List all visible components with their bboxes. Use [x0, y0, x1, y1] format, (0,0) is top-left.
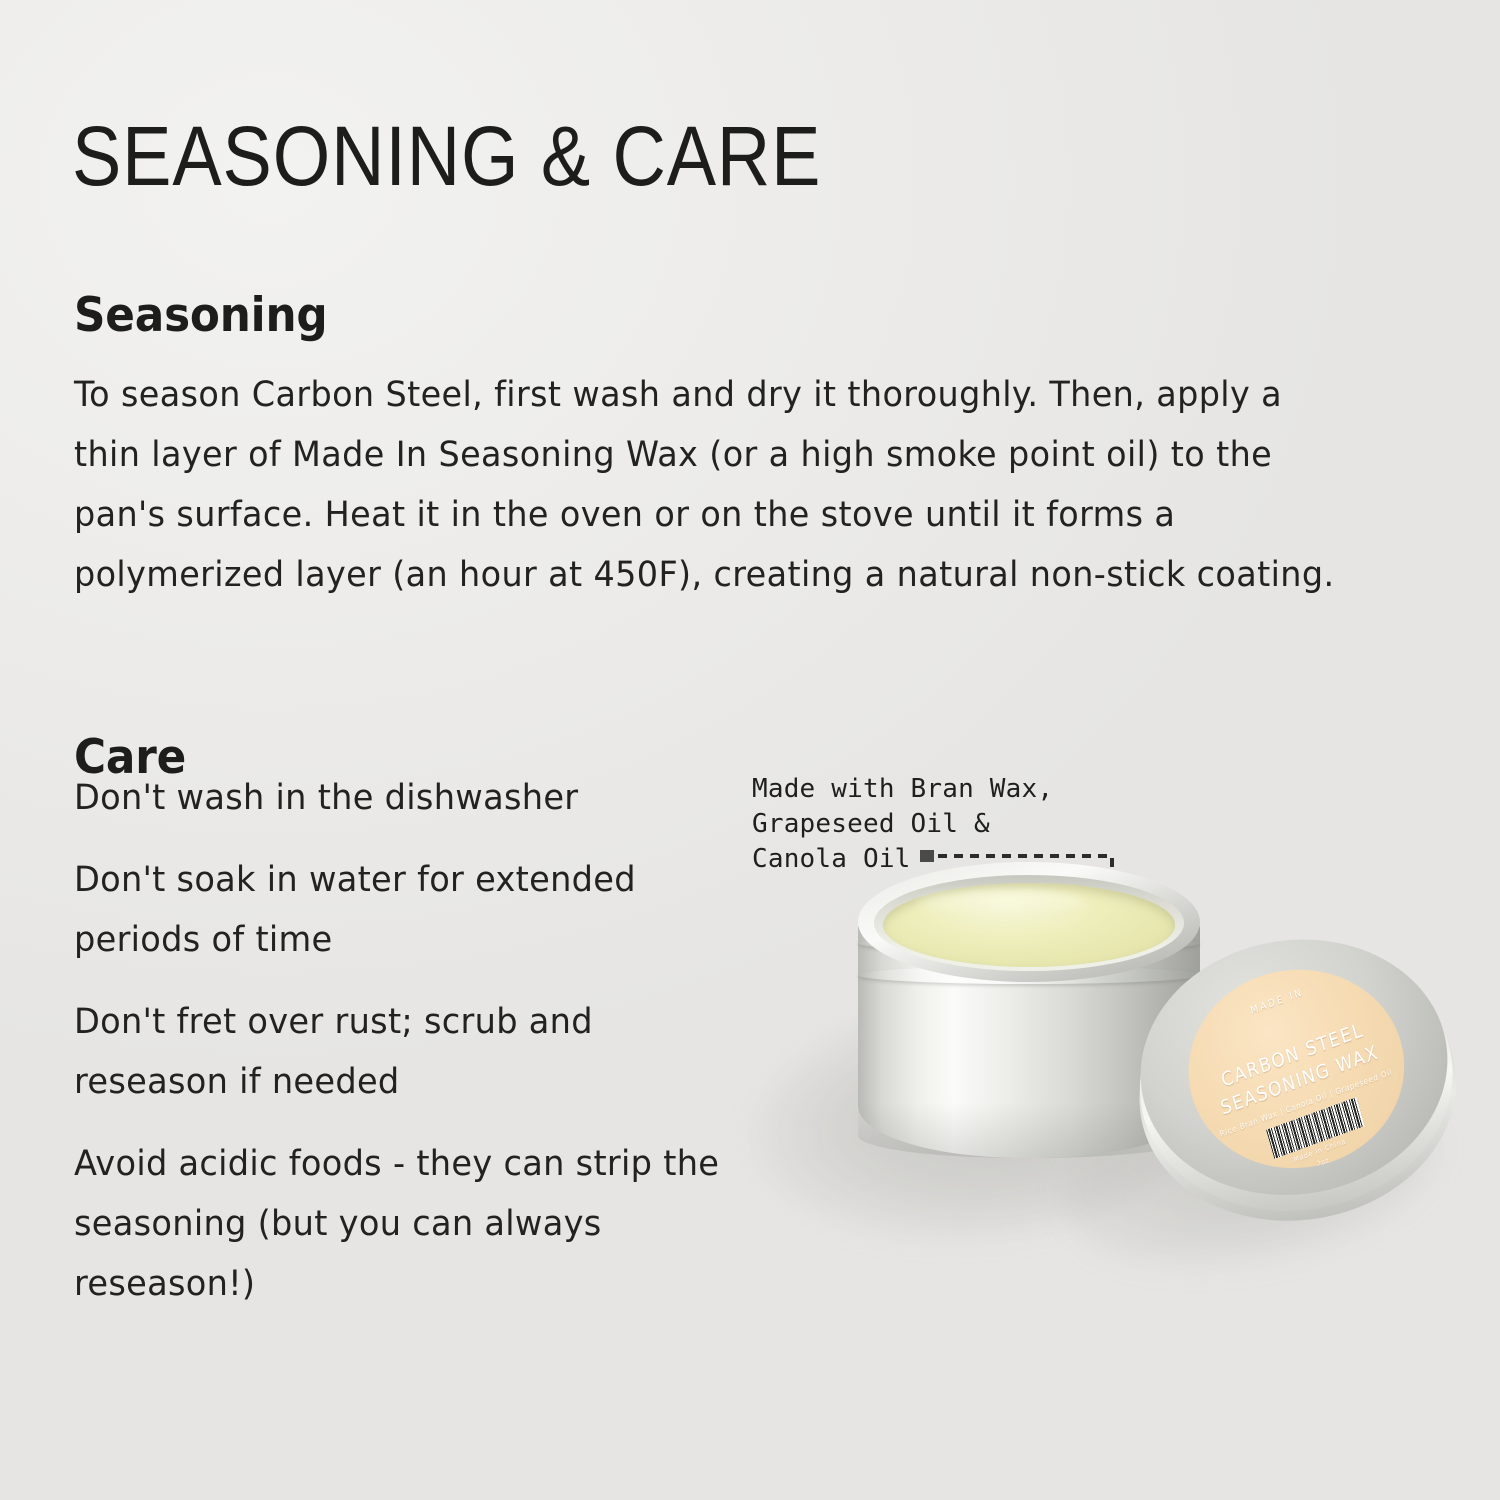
seasoning-paragraph: To season Carbon Steel, first wash and d…	[74, 365, 1354, 605]
tin-lid: MADE IN CARBON STEEL SEASONING WAX Rice …	[1116, 913, 1477, 1259]
care-list: Don't wash in the dishwasher Don't soak …	[74, 768, 774, 1314]
seasoning-heading: Seasoning	[74, 289, 328, 343]
care-list-item: Don't soak in water for extended periods…	[74, 850, 746, 970]
seasoning-and-care-page: SEASONING & CARE Seasoning To season Car…	[0, 0, 1500, 1500]
wax-highlight	[916, 890, 1086, 916]
care-list-item: Avoid acidic foods - they can strip the …	[74, 1134, 746, 1314]
product-photo: MADE IN CARBON STEEL SEASONING WAX Rice …	[740, 840, 1440, 1300]
product-label: MADE IN CARBON STEEL SEASONING WAX Rice …	[1174, 954, 1418, 1183]
page-title: SEASONING & CARE	[72, 108, 821, 204]
care-list-item: Don't wash in the dishwasher	[74, 768, 746, 828]
care-list-item: Don't fret over rust; scrub and reseason…	[74, 992, 746, 1112]
